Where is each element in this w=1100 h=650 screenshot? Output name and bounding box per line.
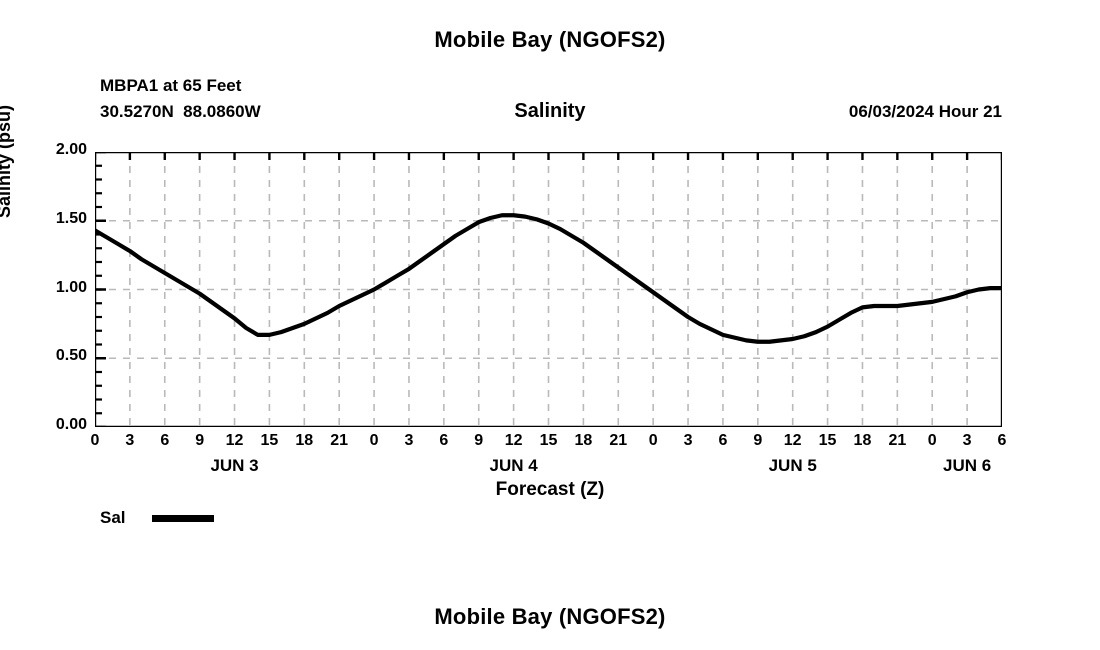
y-axis-title: Salinity (psu) (0, 105, 15, 218)
chart-legend: Sal (100, 508, 214, 528)
x-tick-label: 9 (743, 432, 773, 450)
x-tick-label: 15 (254, 432, 284, 450)
chart-plot-area (95, 152, 1002, 427)
x-tick-label: 3 (952, 432, 982, 450)
x-tick-label: 0 (638, 432, 668, 450)
station-label: MBPA1 at 65 Feet (100, 76, 241, 96)
x-tick-label: 9 (185, 432, 215, 450)
x-tick-label: 18 (847, 432, 877, 450)
x-tick-label: 12 (499, 432, 529, 450)
y-tick-label: 0.50 (27, 347, 87, 365)
x-tick-label: 21 (882, 432, 912, 450)
x-tick-label: 21 (603, 432, 633, 450)
x-tick-label: 15 (534, 432, 564, 450)
y-tick-label: 1.00 (27, 279, 87, 297)
x-tick-label: 6 (429, 432, 459, 450)
page-title-bottom: Mobile Bay (NGOFS2) (0, 604, 1100, 630)
salinity-line-chart (95, 152, 1002, 427)
legend-label-sal: Sal (100, 508, 152, 528)
x-tick-label: 0 (359, 432, 389, 450)
x-day-label: JUN 4 (464, 456, 564, 476)
x-tick-label: 9 (464, 432, 494, 450)
x-tick-label: 0 (917, 432, 947, 450)
page-title-top: Mobile Bay (NGOFS2) (0, 27, 1100, 53)
x-tick-label: 6 (708, 432, 738, 450)
x-tick-label: 15 (813, 432, 843, 450)
y-tick-label: 2.00 (27, 141, 87, 159)
x-tick-label: 21 (324, 432, 354, 450)
x-tick-label: 3 (673, 432, 703, 450)
y-tick-label: 0.00 (27, 416, 87, 434)
forecast-datetime-label: 06/03/2024 Hour 21 (849, 102, 1002, 122)
x-tick-label: 6 (987, 432, 1017, 450)
x-day-label: JUN 3 (185, 456, 285, 476)
x-tick-label: 3 (115, 432, 145, 450)
x-tick-label: 3 (394, 432, 424, 450)
x-tick-label: 12 (778, 432, 808, 450)
x-tick-label: 12 (220, 432, 250, 450)
x-tick-label: 18 (289, 432, 319, 450)
x-day-label: JUN 6 (917, 456, 1017, 476)
x-tick-label: 18 (568, 432, 598, 450)
x-axis-title: Forecast (Z) (0, 479, 1100, 501)
legend-swatch-sal (152, 515, 214, 522)
x-day-label: JUN 5 (743, 456, 843, 476)
y-tick-label: 1.50 (27, 210, 87, 228)
x-tick-label: 6 (150, 432, 180, 450)
x-tick-label: 0 (80, 432, 110, 450)
